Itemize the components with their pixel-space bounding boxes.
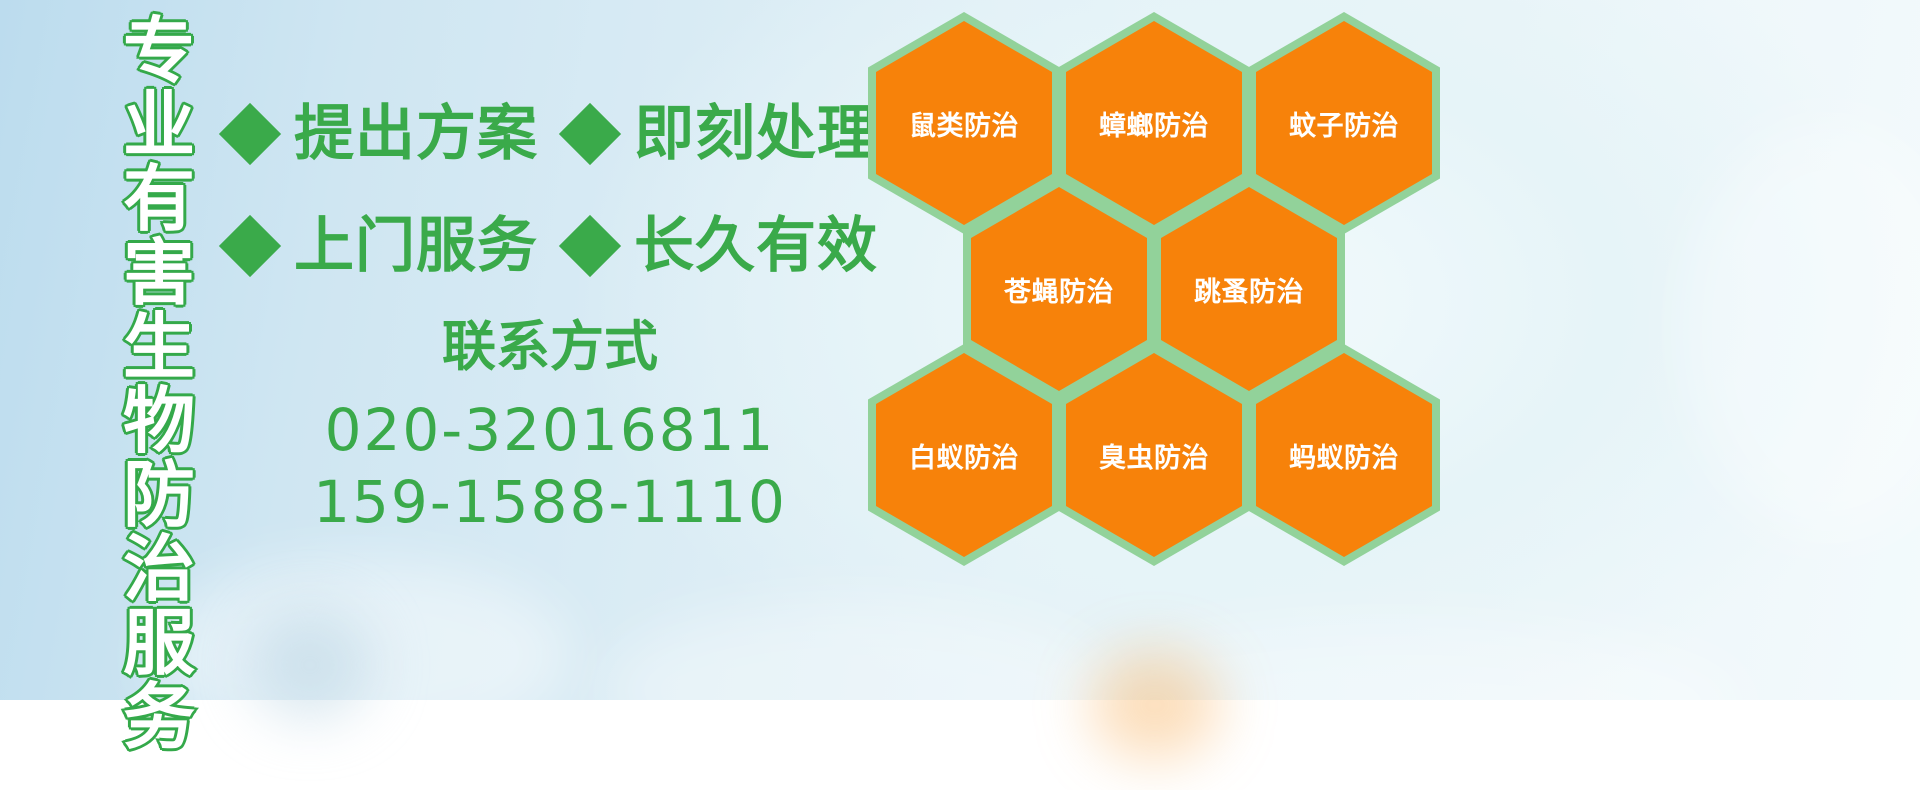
hex-inner: 苍蝇防治 <box>971 187 1147 391</box>
feature-item-long-lasting-effect: 长久有效 <box>568 215 878 277</box>
vertical-headline: 专 业 有 害 生 物 防 治 服 务 <box>113 14 205 686</box>
diamond-bullet-icon <box>219 103 281 165</box>
hex-label: 蟑螂防治 <box>1099 104 1209 143</box>
feature-row: 上门服务 长久有效 <box>228 190 868 302</box>
feature-label: 长久有效 <box>634 215 878 277</box>
hex-inner: 鼠类防治 <box>876 21 1052 225</box>
feature-row: 提出方案 即刻处理 <box>228 78 868 190</box>
hex-label: 苍蝇防治 <box>1004 270 1114 309</box>
feature-label: 提出方案 <box>294 103 538 165</box>
contact-title: 联系方式 <box>240 312 860 382</box>
diamond-bullet-icon <box>219 215 281 277</box>
hex-label: 臭虫防治 <box>1099 436 1209 475</box>
hex-label: 蚊子防治 <box>1289 104 1399 143</box>
background-blur-blob <box>150 560 570 750</box>
hex-inner: 蚂蚁防治 <box>1256 353 1432 557</box>
hex-inner: 蟑螂防治 <box>1066 21 1242 225</box>
pest-control-banner: 专 业 有 害 生 物 防 治 服 务 提出方案 即刻处理 上门服务 <box>0 0 1920 700</box>
vertical-headline-char: 有 <box>123 162 195 236</box>
hex-inner: 蚊子防治 <box>1256 21 1432 225</box>
hex-label: 蚂蚁防治 <box>1289 436 1399 475</box>
feature-label: 即刻处理 <box>634 103 878 165</box>
vertical-headline-char: 专 <box>123 14 195 88</box>
feature-list: 提出方案 即刻处理 上门服务 长久有效 <box>228 78 868 302</box>
contact-phone-landline[interactable]: 020-32016811 <box>240 394 860 466</box>
vertical-headline-char: 生 <box>123 310 195 384</box>
vertical-headline-char: 物 <box>123 384 195 458</box>
hex-inner: 跳蚤防治 <box>1161 187 1337 391</box>
hex-inner: 臭虫防治 <box>1066 353 1242 557</box>
vertical-headline-char: 务 <box>123 680 195 754</box>
vertical-headline-char: 害 <box>123 236 195 310</box>
feature-item-onsite-service: 上门服务 <box>228 215 538 277</box>
vertical-headline-char: 治 <box>123 532 195 606</box>
feature-item-propose-plan: 提出方案 <box>228 103 538 165</box>
hex-label: 鼠类防治 <box>909 104 1019 143</box>
hex-inner: 白蚁防治 <box>876 353 1052 557</box>
feature-item-immediate-handling: 即刻处理 <box>568 103 878 165</box>
background-blur-blob <box>1680 120 1920 540</box>
diamond-bullet-icon <box>559 215 621 277</box>
background-blur-blob <box>250 610 370 720</box>
contact-block: 联系方式 020-32016811 159-1588-1110 <box>240 312 860 538</box>
diamond-bullet-icon <box>559 103 621 165</box>
contact-phone-mobile[interactable]: 159-1588-1110 <box>240 466 860 538</box>
feature-label: 上门服务 <box>294 215 538 277</box>
hex-label: 白蚁防治 <box>909 436 1019 475</box>
vertical-headline-char: 防 <box>123 458 195 532</box>
vertical-headline-char: 服 <box>123 606 195 680</box>
vertical-headline-char: 业 <box>123 88 195 162</box>
hex-label: 跳蚤防治 <box>1194 270 1304 309</box>
service-hex-grid: 鼠类防治 蟑螂防治 蚊子防治 苍蝇防治 跳蚤防治 白蚁防治 <box>862 0 1462 700</box>
